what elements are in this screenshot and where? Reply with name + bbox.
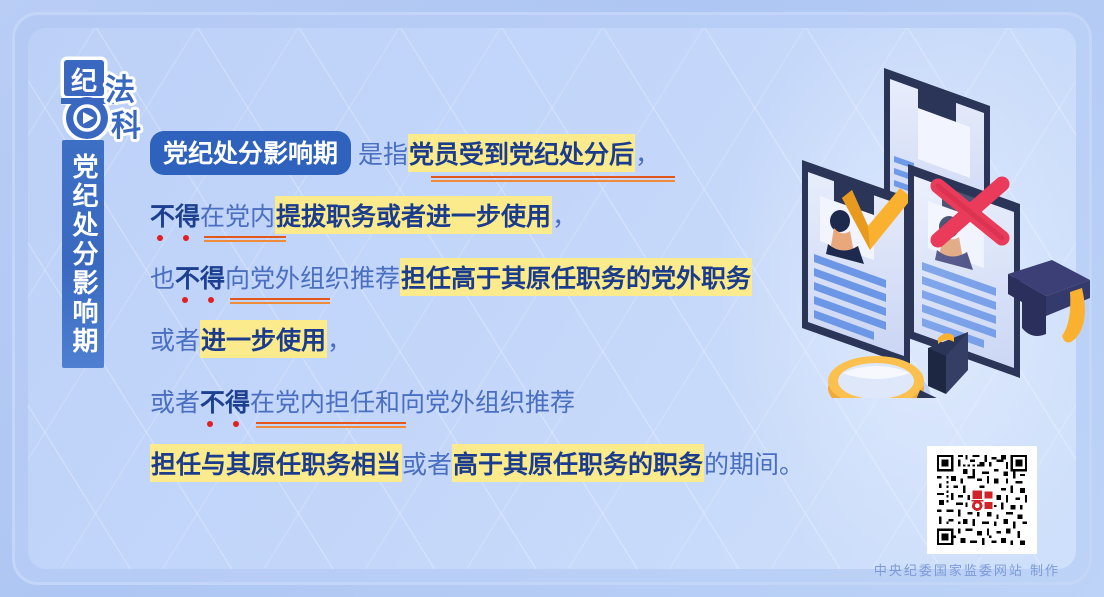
line1-underline: [431, 176, 675, 182]
line3-seg-plain: 向党外组织推荐: [225, 259, 400, 295]
term-pill: 党纪处分影响期: [150, 131, 351, 175]
text-line-2: 不得 在党内 提拔职务或者进一步使用 ，: [150, 184, 890, 246]
text-line-6: 担任与其原任职务相当 或者 高于其原任职务的职务 的期间。: [150, 432, 890, 494]
line5-underline: [256, 422, 406, 428]
logo-icon: 纪 法 法 科 科: [57, 52, 153, 144]
main-text-block: 党纪处分影响期 是指 党员受到党纪处分后 ， 不得 在党内 提拔职务或者进一步使…: [150, 122, 890, 494]
line4-seg-comma: ，: [327, 321, 352, 357]
qr-code-image: [931, 450, 1033, 550]
line4-seg-highlight: 进一步使用: [200, 320, 327, 358]
line5-seg-emphasis: 不得: [200, 383, 250, 419]
line4-seg-lead: 或者: [150, 321, 200, 357]
line3-emphasis-dots: [182, 297, 214, 303]
svg-text:法: 法: [105, 73, 135, 108]
qr-code[interactable]: [927, 446, 1037, 554]
graduation-cap-icon: [1008, 260, 1090, 343]
infographic-canvas: 纪 法 法 科 科 党纪处分影响期 党纪处分影响期 是指 党员受到党纪处分后 ，…: [0, 0, 1104, 597]
line2-emphasis-dots: [157, 235, 189, 241]
line5-emphasis-dots: [207, 421, 239, 427]
line3-underline: [230, 298, 330, 304]
line3-seg-highlight: 担任高于其原任职务的党外职务: [400, 258, 752, 296]
line5-seg-plain: 在党内担任和向党外组织推荐: [250, 383, 575, 419]
line2-seg-emphasis: 不得: [150, 197, 200, 233]
line3-seg-lead: 也: [150, 259, 175, 295]
text-line-3: 也 不得 向党外组织推荐 担任高于其原任职务的党外职务: [150, 246, 890, 308]
illustration-svg: [790, 48, 1100, 398]
text-line-4: 或者 进一步使用 ，: [150, 308, 890, 370]
brand-logo: 纪 法 法 科 科: [57, 52, 153, 144]
line1-seg-highlight: 党员受到党纪处分后: [408, 134, 635, 172]
line6-seg-plain: 或者: [402, 445, 452, 481]
vertical-title-banner: 党纪处分影响期: [62, 140, 104, 368]
line2-seg-comma: ，: [552, 197, 577, 233]
line6-seg-highlight-2: 高于其原任职务的职务: [452, 444, 704, 482]
credit-text: 中央纪委国家监委网站 制作: [874, 560, 1060, 579]
line6-seg-tail: 的期间。: [704, 445, 804, 481]
isometric-illustration: [790, 48, 1100, 398]
line3-seg-emphasis: 不得: [175, 259, 225, 295]
svg-text:科: 科: [111, 109, 141, 144]
text-line-5: 或者 不得 在党内担任和向党外组织推荐: [150, 370, 890, 432]
line1-seg-comma: ，: [635, 135, 660, 171]
vertical-title-text: 党纪处分影响期: [69, 153, 97, 356]
line1-seg-plain: 是指: [358, 135, 408, 171]
line6-seg-highlight-1: 担任与其原任职务相当: [150, 444, 402, 482]
line2-seg-plain: 在党内: [200, 197, 275, 233]
line5-seg-lead: 或者: [150, 383, 200, 419]
text-line-1: 党纪处分影响期 是指 党员受到党纪处分后 ，: [150, 122, 890, 184]
line2-seg-highlight: 提拔职务或者进一步使用: [275, 196, 552, 234]
svg-text:纪: 纪: [71, 66, 97, 97]
line2-underline: [204, 236, 286, 242]
